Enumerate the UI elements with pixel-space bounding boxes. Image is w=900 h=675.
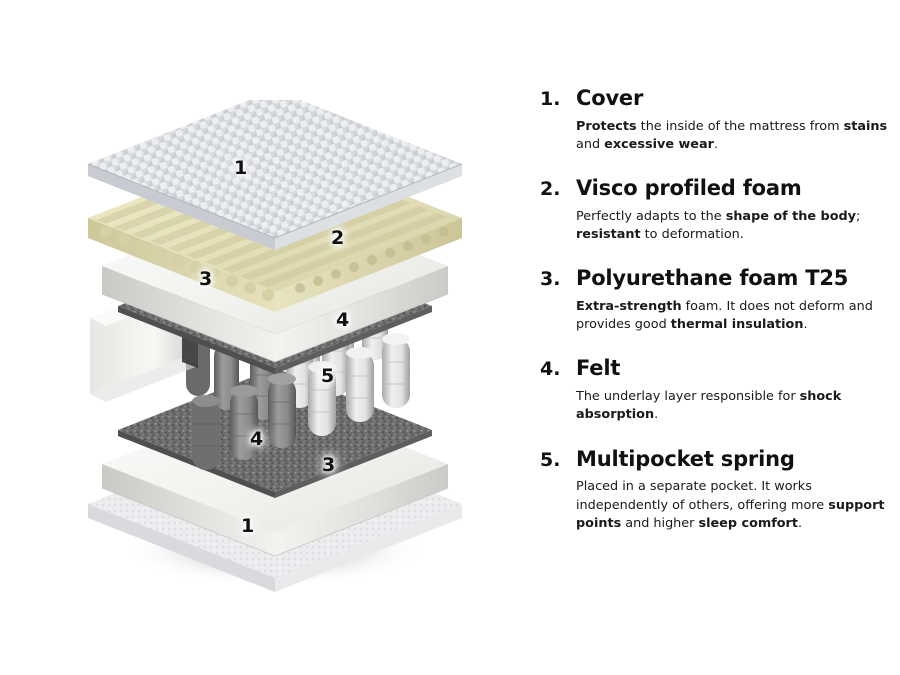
legend-number: 3. bbox=[540, 269, 576, 291]
legend-number: 1. bbox=[540, 89, 576, 111]
legend-head: 5. Multipocket spring bbox=[540, 447, 888, 472]
pocket-spring bbox=[382, 333, 410, 408]
mattress-diagram-svg bbox=[70, 100, 490, 600]
legend-head: 4. Felt bbox=[540, 356, 888, 381]
pocket-spring bbox=[230, 385, 258, 460]
pocket-spring bbox=[308, 361, 336, 436]
legend-description: Perfectly adapts to the shape of the bod… bbox=[576, 208, 888, 244]
legend-description: The underlay layer responsible for shock… bbox=[576, 388, 888, 424]
legend-number: 5. bbox=[540, 450, 576, 472]
mattress-exploded-diagram: 1 2 3 4 5 4 3 1 bbox=[70, 100, 490, 600]
legend-head: 2. Visco profiled foam bbox=[540, 176, 888, 201]
legend-description: Extra-strength foam. It does not deform … bbox=[576, 298, 888, 334]
pocket-spring bbox=[192, 395, 220, 470]
pocket-spring bbox=[268, 373, 296, 448]
legend-number: 2. bbox=[540, 179, 576, 201]
legend-description: Protects the inside of the mattress from… bbox=[576, 118, 888, 154]
legend-number: 4. bbox=[540, 359, 576, 381]
legend-title: Felt bbox=[576, 356, 620, 380]
legend-head: 1. Cover bbox=[540, 86, 888, 111]
legend-item-multipocket-spring: 5. Multipocket spring Placed in a separa… bbox=[540, 447, 888, 533]
layer-legend-list: 1. Cover Protects the inside of the matt… bbox=[540, 86, 888, 555]
legend-item-polyurethane-foam-t25: 3. Polyurethane foam T25 Extra-strength … bbox=[540, 266, 888, 334]
legend-title: Cover bbox=[576, 86, 643, 110]
page-root: 1 2 3 4 5 4 3 1 1. Cover Protects the in… bbox=[0, 0, 900, 675]
legend-description: Placed in a separate pocket. It works in… bbox=[576, 478, 888, 532]
legend-item-felt: 4. Felt The underlay layer responsible f… bbox=[540, 356, 888, 424]
legend-item-visco-profiled-foam: 2. Visco profiled foam Perfectly adapts … bbox=[540, 176, 888, 244]
pocket-spring bbox=[346, 347, 374, 422]
legend-title: Visco profiled foam bbox=[576, 176, 802, 200]
legend-title: Multipocket spring bbox=[576, 447, 795, 471]
legend-title: Polyurethane foam T25 bbox=[576, 266, 848, 290]
legend-head: 3. Polyurethane foam T25 bbox=[540, 266, 888, 291]
legend-item-cover: 1. Cover Protects the inside of the matt… bbox=[540, 86, 888, 154]
